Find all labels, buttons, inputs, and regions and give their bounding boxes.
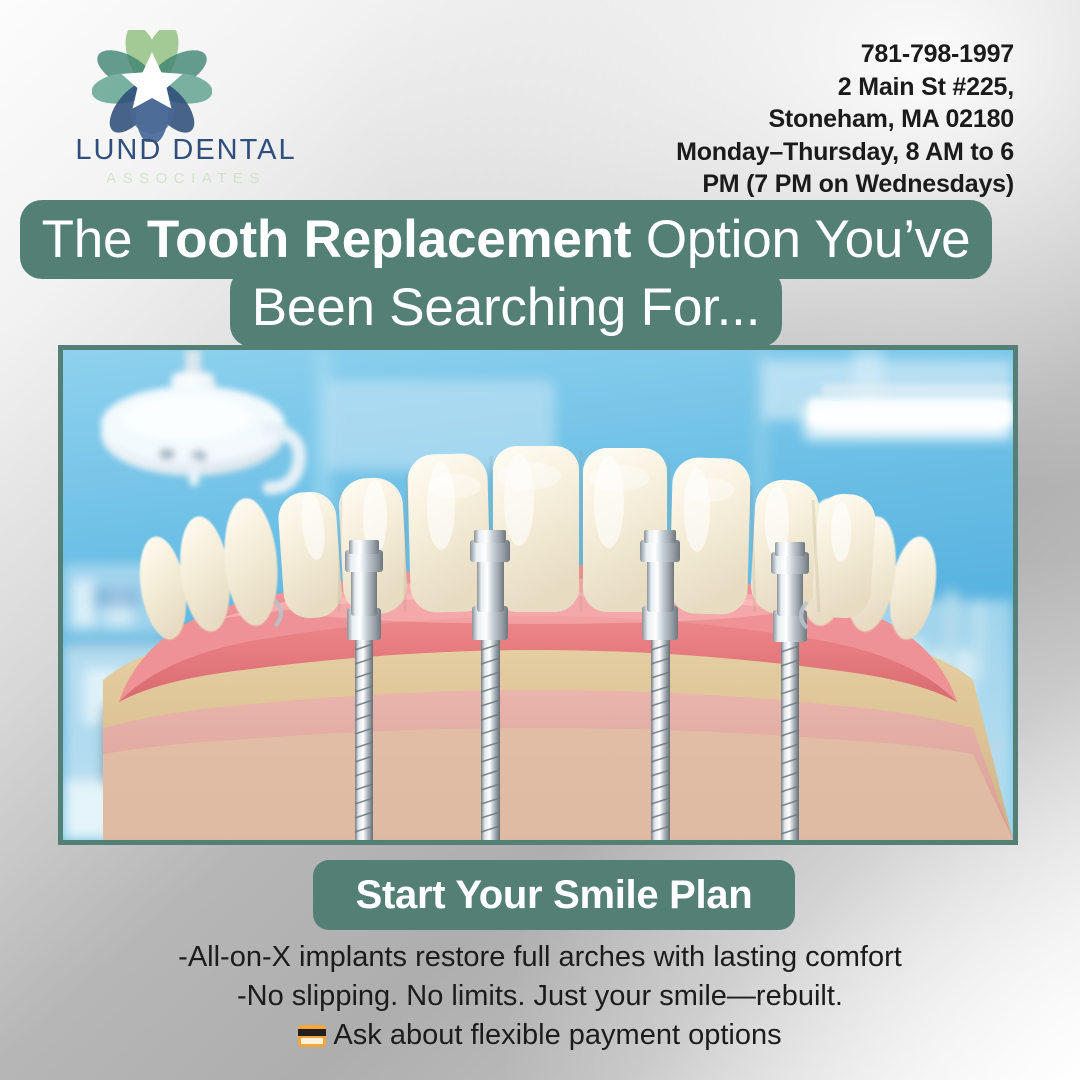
contact-hours-line1: Monday–Thursday, 8 AM to 6 <box>494 136 1014 169</box>
header: LUND DENTAL ASSOCIATES 781-798-1997 2 Ma… <box>0 0 1080 196</box>
headline-part1: The <box>42 210 147 269</box>
dental-implant-photo <box>63 350 1013 840</box>
dental-ad-poster: LUND DENTAL ASSOCIATES 781-798-1997 2 Ma… <box>0 0 1080 1080</box>
brand-tagline: ASSOCIATES <box>56 170 316 187</box>
contact-address-line1: 2 Main St #225, <box>494 71 1014 104</box>
cta-button[interactable]: Start Your Smile Plan <box>313 860 795 930</box>
cta-button-label: Start Your Smile Plan <box>356 873 753 918</box>
contact-info: 781-798-1997 2 Main St #225, Stoneham, M… <box>494 38 1014 201</box>
credit-card-icon <box>298 1025 326 1047</box>
benefit-line-3-label: Ask about flexible payment options <box>333 1019 781 1051</box>
contact-phone[interactable]: 781-798-1997 <box>494 38 1014 71</box>
headline-emphasis: Tooth Replacement <box>147 210 631 269</box>
benefit-line-3: Ask about flexible payment options <box>0 1016 1080 1055</box>
headline-banner: The Tooth Replacement Option You’ve Been… <box>0 206 1012 342</box>
contact-hours-line2: PM (7 PM on Wednesdays) <box>494 168 1014 201</box>
hero-photo-frame <box>58 345 1018 845</box>
benefit-line-2: -No slipping. No limits. Just your smile… <box>0 977 1080 1016</box>
benefits-list: -All-on-X implants restore full arches w… <box>0 938 1080 1055</box>
brand-logo[interactable]: LUND DENTAL ASSOCIATES <box>56 30 336 190</box>
headline-text: The Tooth Replacement Option You’ve Been… <box>20 200 993 347</box>
benefit-line-1: -All-on-X implants restore full arches w… <box>0 938 1080 977</box>
flower-star-logo-icon <box>92 30 212 142</box>
contact-address-line2: Stoneham, MA 02180 <box>494 103 1014 136</box>
brand-name: LUND DENTAL <box>56 134 316 167</box>
